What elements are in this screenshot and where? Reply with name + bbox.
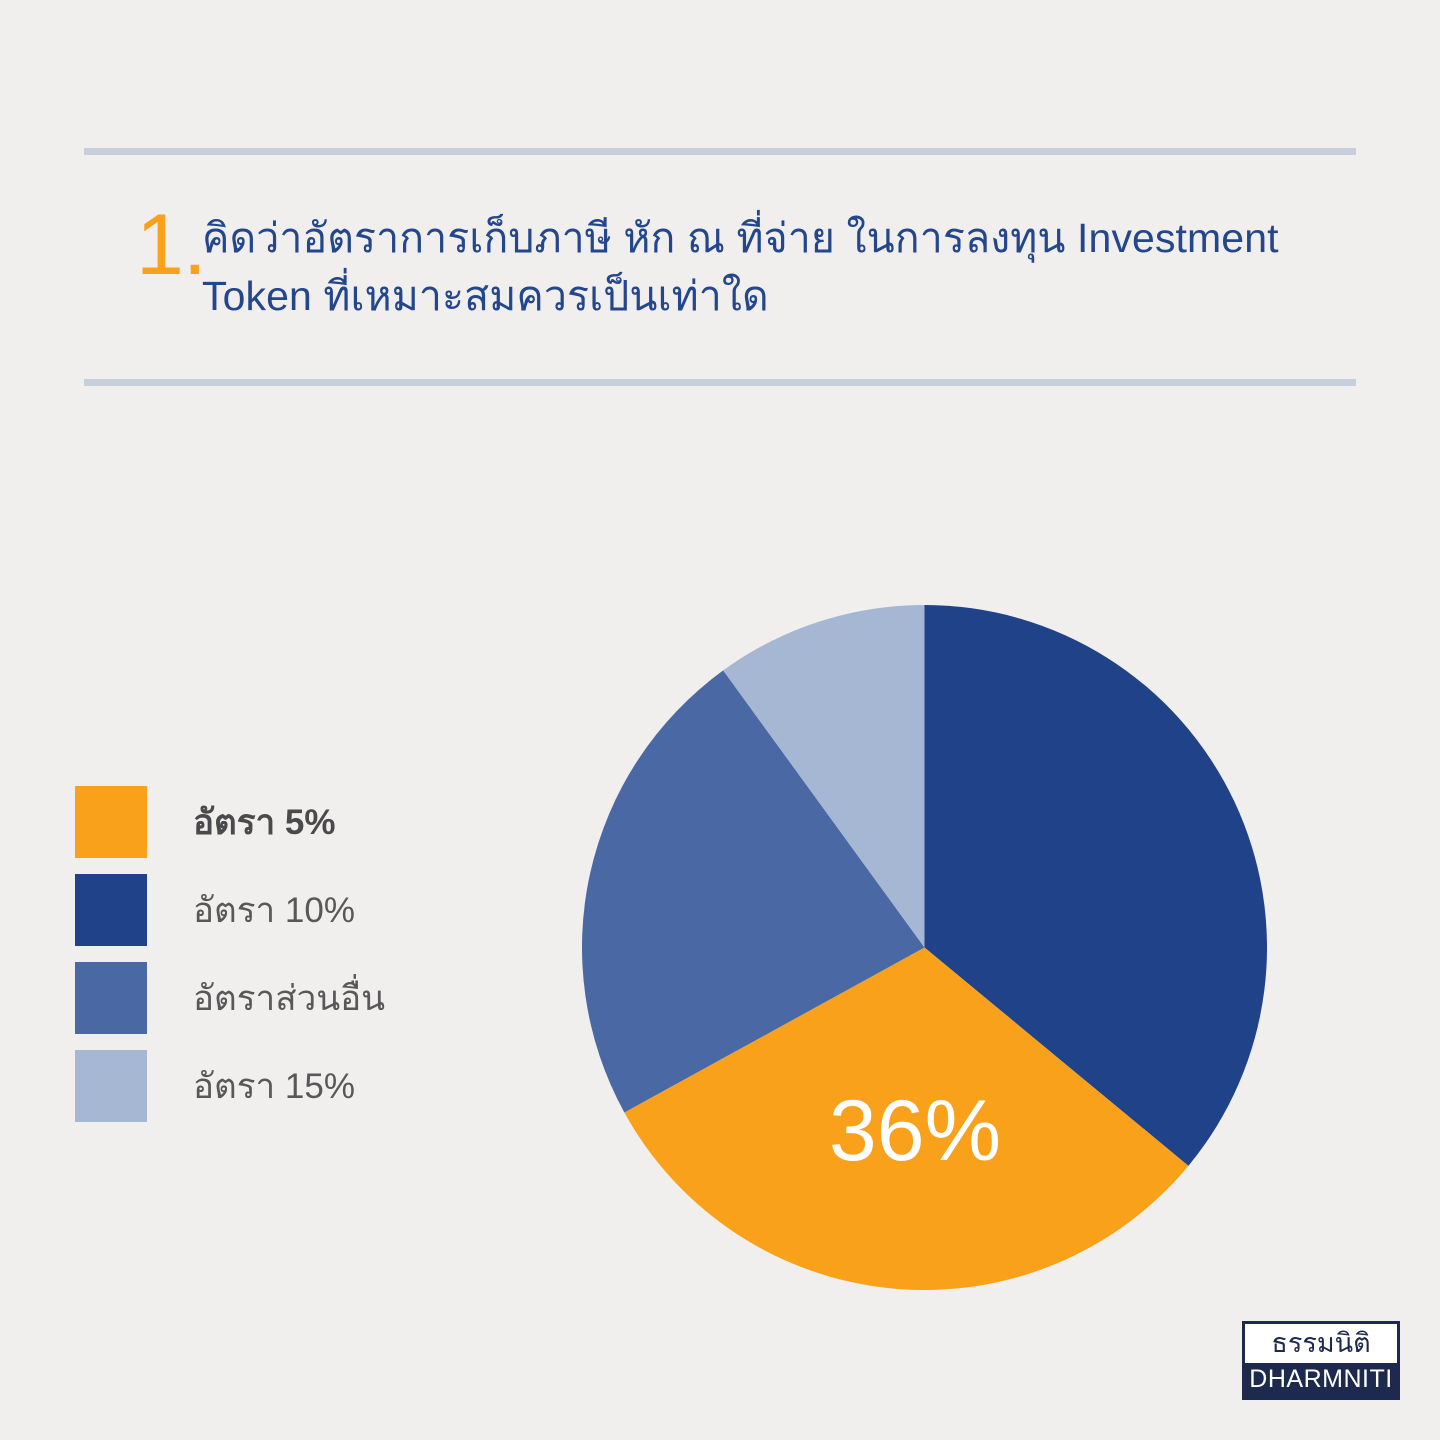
pie-chart: 36% xyxy=(582,605,1267,1290)
legend-label-other-rate: อัตราส่วนอื่น xyxy=(193,971,385,1026)
dharmniti-logo: ธรรมนิติ DHARMNITI xyxy=(1242,1321,1400,1400)
legend-label-rate-5: อัตรา 5% xyxy=(193,795,336,850)
legend-item-other-rate[interactable]: อัตราส่วนอื่น xyxy=(75,954,495,1042)
legend-item-rate-10[interactable]: อัตรา 10% xyxy=(75,866,495,954)
legend-swatch-rate-10 xyxy=(75,874,147,946)
legend-label-rate-15: อัตรา 15% xyxy=(193,1059,355,1114)
logo-latin-text: DHARMNITI xyxy=(1245,1363,1397,1397)
header-divider-top xyxy=(84,148,1356,155)
pie-data-label: 36% xyxy=(829,1083,1001,1179)
legend-label-rate-10: อัตรา 10% xyxy=(193,883,355,938)
legend-swatch-other-rate xyxy=(75,962,147,1034)
header-divider-bottom xyxy=(84,379,1356,386)
legend-swatch-rate-5 xyxy=(75,786,147,858)
legend-item-rate-5[interactable]: อัตรา 5% xyxy=(75,778,495,866)
pie-chart-svg: 36% xyxy=(582,605,1267,1290)
chart-legend: อัตรา 5% อัตรา 10% อัตราส่วนอื่น อัตรา 1… xyxy=(75,778,495,1130)
question-body: 1. คิดว่าอัตราการเก็บภาษี หัก ณ ที่จ่าย … xyxy=(84,155,1356,379)
legend-swatch-rate-15 xyxy=(75,1050,147,1122)
question-number: 1. xyxy=(84,205,202,287)
question-text: คิดว่าอัตราการเก็บภาษี หัก ณ ที่จ่าย ในก… xyxy=(202,205,1356,325)
question-header: 1. คิดว่าอัตราการเก็บภาษี หัก ณ ที่จ่าย … xyxy=(84,148,1356,386)
logo-thai-text: ธรรมนิติ xyxy=(1245,1324,1397,1363)
legend-item-rate-15[interactable]: อัตรา 15% xyxy=(75,1042,495,1130)
